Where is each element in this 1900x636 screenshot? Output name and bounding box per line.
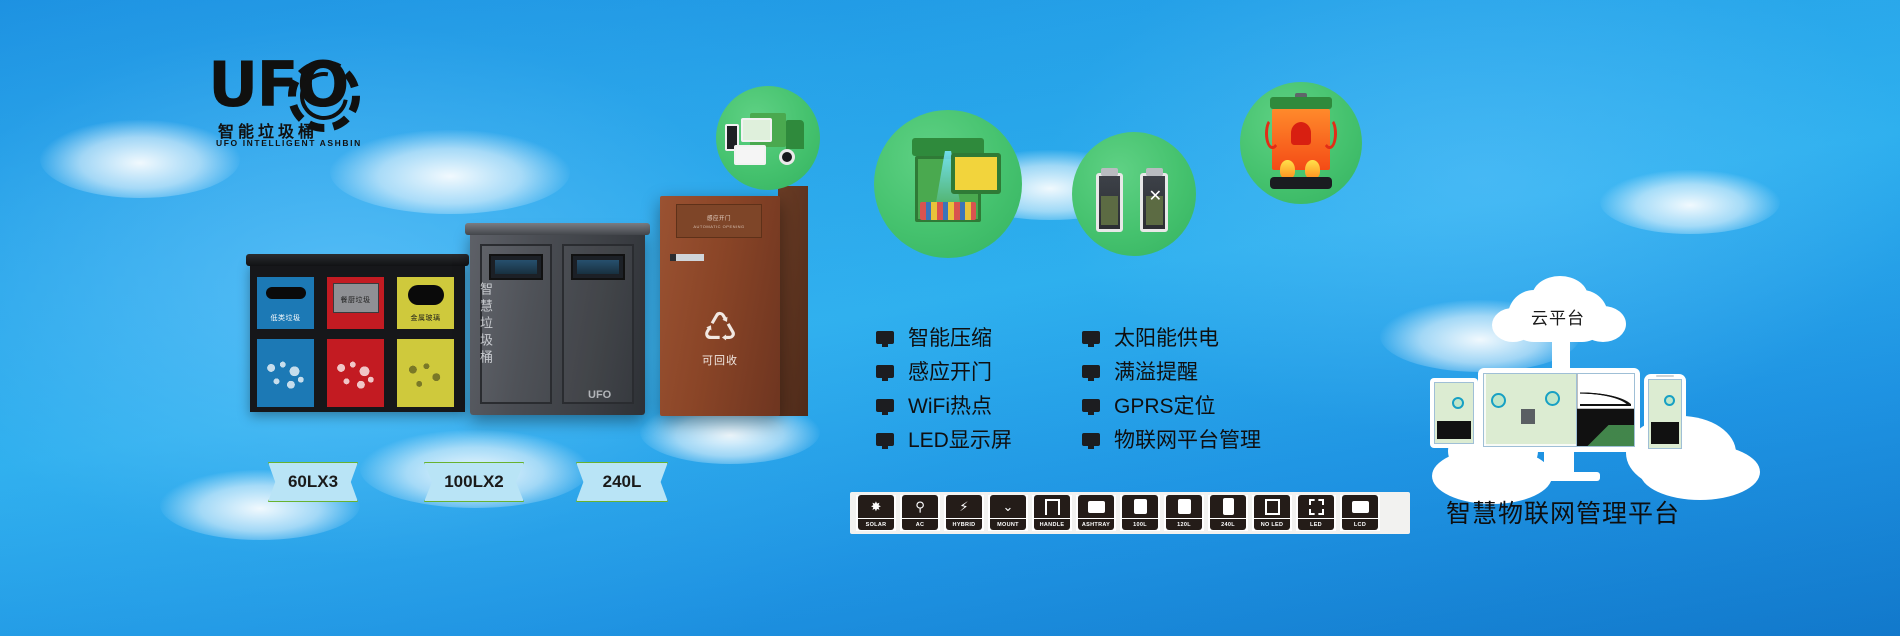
capacity-banner-240l: 240L <box>576 462 668 502</box>
handle-icon <box>1034 495 1070 518</box>
feature-item: WiFi热点 <box>876 388 1012 422</box>
iot-platform-illustration: 云平台 <box>1440 290 1780 540</box>
monitor-icon <box>876 399 894 412</box>
bin-upper-face: 金属玻璃 <box>394 274 457 332</box>
chart-shape <box>1437 421 1470 439</box>
spec-icon-strip: ✸ SOLAR ⚲ AC ⚡ HYBRID ⌄ MOUNT HANDLE ASH… <box>850 492 1410 534</box>
led-icon <box>1298 495 1334 518</box>
feature-item: 感应开门 <box>876 354 1012 388</box>
spec-icon-100l: 100L <box>1120 495 1160 531</box>
no-led-icon <box>1254 495 1290 518</box>
bin-240l-icon <box>1210 495 1246 518</box>
plug-icon: ⚲ <box>902 495 938 518</box>
bin-panel-label: 低类垃圾 <box>257 313 314 323</box>
truck-wheel-shape <box>779 149 795 165</box>
monitor-stand <box>1544 452 1574 474</box>
feature-label: GPRS定位 <box>1114 390 1216 420</box>
sun-icon: ✸ <box>858 495 894 518</box>
area-chart-shape <box>1577 409 1634 446</box>
flame-icon <box>1305 160 1320 179</box>
bin-vertical-label: 智慧垃圾桶 <box>476 282 495 367</box>
bin-plaque-line2: AUTOMATIC OPENING <box>693 224 744 229</box>
feature-label: 物联网平台管理 <box>1114 424 1261 454</box>
brand-english-tagline: UFO INTELLIGENT ASHBIN <box>216 138 362 148</box>
platform-title: 智慧物联网管理平台 <box>1446 494 1786 530</box>
bin-unit-shape <box>1096 173 1124 233</box>
spec-icon-ashtray: ASHTRAY <box>1076 495 1116 531</box>
cloud-platform-badge: 云平台 <box>1508 290 1608 342</box>
feature-label: LED显示屏 <box>908 424 1012 454</box>
map-building-shape <box>1521 409 1536 425</box>
dashboard-map-panel <box>1484 374 1576 446</box>
bin-display-screen <box>489 254 543 280</box>
feature-circle-fire-alarm <box>1240 82 1362 204</box>
bin-sensor-strip <box>670 254 704 261</box>
compaction-panel-shape <box>951 153 1002 194</box>
spec-caption: ASHTRAY <box>1078 519 1114 530</box>
tablet-device <box>1430 378 1478 448</box>
bin-fill-shape <box>1101 196 1118 225</box>
lightning-icon: ⚡ <box>946 495 982 518</box>
alarm-bell-icon <box>1291 122 1312 145</box>
monitor-icon <box>1082 331 1100 344</box>
monitor-icon <box>1082 433 1100 446</box>
spec-caption: NO LED <box>1254 519 1290 530</box>
spec-caption: MOUNT <box>990 519 1026 530</box>
device-laptop-shape <box>734 145 766 165</box>
spec-caption: 120L <box>1166 519 1202 530</box>
phone-speaker-shape <box>1656 375 1674 377</box>
bin-top-cap <box>465 223 650 235</box>
flame-icon <box>1280 160 1295 179</box>
mount-icon: ⌄ <box>990 495 1026 518</box>
bin-graphic-icons <box>403 357 448 399</box>
spec-icon-handle: HANDLE <box>1032 495 1072 531</box>
spec-icon-led: LED <box>1296 495 1336 531</box>
bin-panel-kitchen: 餐厨垃圾 <box>324 274 387 410</box>
bin-panel-metal-glass: 金属玻璃 <box>394 274 457 410</box>
tablet-screen <box>1434 382 1474 444</box>
double-smart-bin: 智慧垃圾桶 UFO <box>470 230 645 415</box>
monitor-icon <box>876 331 894 344</box>
lcd-icon <box>1342 495 1378 518</box>
bin-graphic-icons <box>333 357 378 399</box>
feature-circle-truck-monitoring <box>716 86 820 190</box>
bin-slot <box>266 287 306 299</box>
feature-label: 满溢提醒 <box>1114 356 1198 386</box>
spec-icon-mount: ⌄ MOUNT <box>988 495 1028 531</box>
feature-label: WiFi热点 <box>908 390 992 420</box>
phone-device <box>1644 374 1686 454</box>
map-marker-icon <box>1452 397 1464 409</box>
spec-caption: AC <box>902 519 938 530</box>
monitor-icon <box>876 433 894 446</box>
compaction-marker-icon: ✕ <box>1149 189 1160 203</box>
feature-column-left: 智能压缩 感应开门 WiFi热点 LED显示屏 <box>876 320 1012 456</box>
bin-lower-face <box>324 336 387 410</box>
truck-monitoring-illustration <box>723 93 812 182</box>
cloud-platform-label: 云平台 <box>1531 304 1585 329</box>
feature-item: 物联网平台管理 <box>1082 422 1261 456</box>
brand-logo: UFO 智能垃圾桶 UFO INTELLIGENT ASHBIN <box>204 56 394 156</box>
alarm-wave-icon <box>1322 118 1337 149</box>
compaction-illustration <box>884 120 1011 247</box>
triple-recycling-bin: 低类垃圾 餐厨垃圾 金属玻璃 <box>250 262 465 412</box>
feature-label: 感应开门 <box>908 356 992 386</box>
chart-shape <box>1651 422 1679 444</box>
feature-item: LED显示屏 <box>876 422 1012 456</box>
ashtray-icon <box>1078 495 1114 518</box>
spec-icon-lcd: LCD <box>1340 495 1380 531</box>
bin-cap-shape <box>1146 168 1163 176</box>
feature-item: GPRS定位 <box>1082 388 1261 422</box>
spec-icon-ac: ⚲ AC <box>900 495 940 531</box>
map-marker-icon <box>1545 391 1560 406</box>
spec-caption: LCD <box>1342 519 1378 530</box>
feature-circle-twin-bins: ✕ <box>1072 132 1196 256</box>
spec-icon-solar: ✸ SOLAR <box>856 495 896 531</box>
bin-slot <box>408 285 444 305</box>
device-screen-shape <box>741 118 771 141</box>
spec-caption: HYBRID <box>946 519 982 530</box>
dashboard-chart-panel <box>1576 374 1634 446</box>
monitor-icon <box>876 365 894 378</box>
monitor-screen <box>1483 373 1635 447</box>
bin-lower-face <box>394 336 457 410</box>
spec-caption: HANDLE <box>1034 519 1070 530</box>
spec-icon-hybrid: ⚡ HYBRID <box>944 495 984 531</box>
feature-label: 太阳能供电 <box>1114 322 1219 352</box>
bin-plaque: 感应开门 AUTOMATIC OPENING <box>676 204 762 238</box>
bin-unit-shape: ✕ <box>1140 173 1168 233</box>
capacity-banner-100l: 100LX2 <box>424 462 524 502</box>
bin-upper-face: 餐厨垃圾 <box>324 274 387 332</box>
bin-lid-shape <box>1270 97 1333 110</box>
bin-base-shape <box>1270 177 1333 190</box>
bin-panel-paper: 低类垃圾 <box>254 274 317 410</box>
map-marker-icon <box>1491 393 1506 408</box>
bin-lower-face <box>254 336 317 410</box>
bin-brand-mark: UFO <box>588 389 611 401</box>
bin-hood <box>246 254 469 266</box>
bin-cap-shape <box>1101 168 1118 176</box>
spec-icon-240l: 240L <box>1208 495 1248 531</box>
feature-column-right: 太阳能供电 满溢提醒 GPRS定位 物联网平台管理 <box>1082 320 1261 456</box>
bin-100l-icon <box>1122 495 1158 518</box>
bin-120l-icon <box>1166 495 1202 518</box>
feature-item: 太阳能供电 <box>1082 320 1261 354</box>
spec-caption: 100L <box>1122 519 1158 530</box>
bin-panel-label: 金属玻璃 <box>397 313 454 323</box>
feature-item: 智能压缩 <box>876 320 1012 354</box>
phone-screen <box>1648 379 1682 449</box>
poster-canvas: UFO 智能垃圾桶 UFO INTELLIGENT ASHBIN 低类垃圾 餐厨… <box>0 0 1900 636</box>
feature-item: 满溢提醒 <box>1082 354 1261 388</box>
feature-label: 智能压缩 <box>908 322 992 352</box>
map-marker-icon <box>1664 395 1675 406</box>
bin-door-right <box>562 244 634 404</box>
bin-plaque-line1: 感应开门 <box>707 214 731 222</box>
spec-caption: 240L <box>1210 519 1246 530</box>
bin-graphic-icons <box>263 357 308 399</box>
spec-caption: SOLAR <box>858 519 894 530</box>
bin-recycle-label: 可回收 <box>660 352 780 368</box>
spec-icon-no-led: NO LED <box>1252 495 1292 531</box>
monitor-icon <box>1082 399 1100 412</box>
recycle-symbol-icon: ♺ <box>697 306 743 350</box>
monitor-base <box>1518 472 1600 481</box>
monitor-icon <box>1082 365 1100 378</box>
feature-circle-compaction <box>874 110 1022 258</box>
bin-upper-face: 低类垃圾 <box>254 274 317 332</box>
brown-recycling-bin: 感应开门 AUTOMATIC OPENING ♺ 可回收 <box>660 196 780 416</box>
line-chart-shape <box>1577 374 1634 409</box>
trash-contents-shape <box>920 202 976 220</box>
capacity-banner-60l: 60LX3 <box>268 462 358 502</box>
spec-caption: LED <box>1298 519 1334 530</box>
truck-cab-shape <box>786 120 804 149</box>
bin-display-screen <box>571 254 625 280</box>
twin-bin-illustration: ✕ <box>1081 141 1188 248</box>
desktop-monitor <box>1478 368 1640 452</box>
spec-icon-120l: 120L <box>1164 495 1204 531</box>
bin-side-panel <box>778 186 808 416</box>
alarm-wave-icon <box>1265 118 1280 149</box>
fire-alarm-illustration <box>1249 91 1354 196</box>
cloud-decor <box>1600 170 1780 234</box>
bin-panel-label: 餐厨垃圾 <box>327 295 384 305</box>
